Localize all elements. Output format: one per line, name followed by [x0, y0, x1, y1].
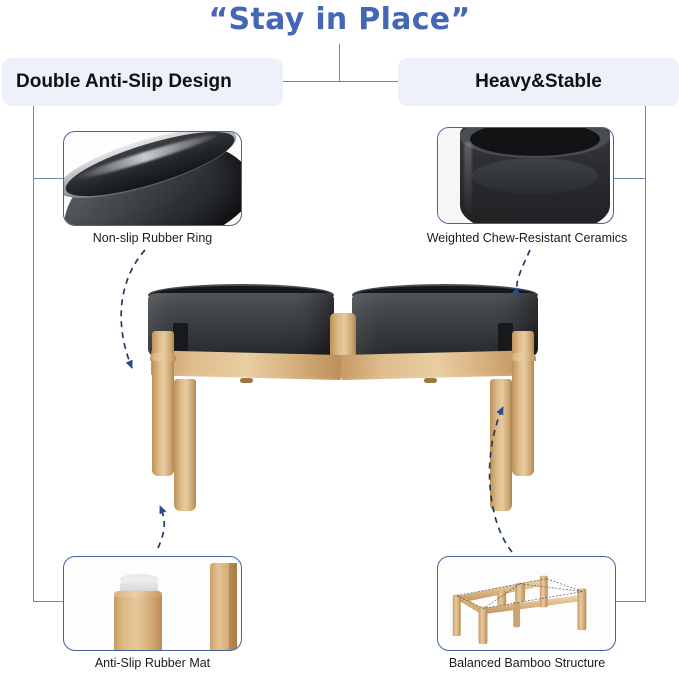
rail-hardware-left	[240, 378, 253, 383]
photo-bamboo-stand-3-4-view	[438, 557, 615, 651]
panel-weighted-chew-resistant-ceramics	[437, 127, 614, 224]
caption-non-slip-rubber-ring: Non-slip Rubber Ring	[0, 231, 305, 245]
panel-balanced-bamboo-structure	[437, 556, 616, 651]
stand-leg-front-right	[490, 379, 512, 511]
page-title: “Stay in Place”	[0, 2, 679, 37]
infographic-canvas: “Stay in Place” Double Anti-Slip Design …	[0, 0, 679, 678]
rail-hardware-right	[424, 378, 437, 383]
connector-left-bottom-stub	[33, 601, 64, 602]
photo-inverted-bowl-rubber-ring	[64, 132, 241, 225]
connector-title-vertical	[339, 44, 340, 81]
product-photo-elevated-double-bowl-stand	[0, 255, 679, 545]
connector-left-top-stub	[33, 178, 64, 179]
header-left-label: Double Anti-Slip Design	[16, 71, 232, 93]
panel-anti-slip-rubber-mat	[63, 556, 242, 651]
stand-leg-front-left	[174, 379, 196, 511]
photo-bamboo-leg-rubber-cap	[64, 557, 241, 650]
header-right-heavy-and-stable: Heavy&Stable	[398, 58, 679, 106]
leg-cap-right	[510, 353, 536, 361]
header-left-double-anti-slip-design: Double Anti-Slip Design	[2, 58, 283, 106]
caption-anti-slip-rubber-mat: Anti-Slip Rubber Mat	[0, 656, 305, 670]
photo-ceramic-bowl-interior	[438, 128, 613, 223]
leg-cap-left	[150, 353, 176, 361]
header-right-label: Heavy&Stable	[475, 71, 602, 93]
panel-non-slip-rubber-ring	[63, 131, 242, 226]
caption-balanced-bamboo-structure: Balanced Bamboo Structure	[375, 656, 679, 670]
caption-weighted-chew-resistant-ceramics: Weighted Chew-Resistant Ceramics	[375, 231, 679, 245]
connector-title-horizontal	[283, 81, 398, 82]
connector-right-top-stub	[614, 178, 646, 179]
connector-right-bottom-stub	[616, 601, 646, 602]
